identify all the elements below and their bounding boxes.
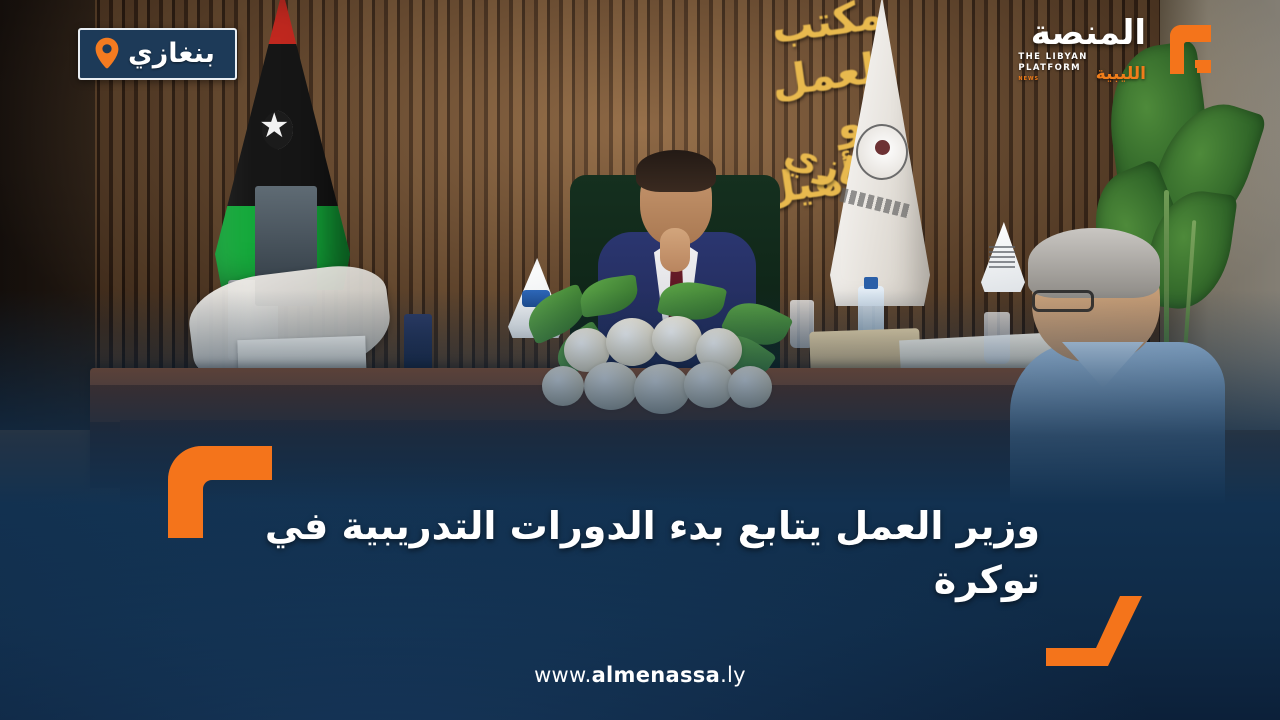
person-hand — [660, 228, 690, 272]
flower-bloom — [584, 362, 638, 410]
institution-emblem-icon — [856, 124, 908, 180]
headline: وزير العمل يتابع بدء الدورات التدريبية ف… — [240, 500, 1040, 608]
brand-second-row: THE LIBYAN PLATFORM NEWS الليبية — [1018, 52, 1146, 83]
brand-english-tiny: NEWS — [1018, 76, 1087, 83]
flower-bloom — [606, 318, 658, 366]
person-hair — [1028, 228, 1160, 298]
quote-close-bracket-icon — [1046, 596, 1150, 666]
white-flower-arrangement — [520, 276, 810, 416]
location-badge[interactable]: بنغازي — [78, 28, 237, 80]
brand-logo[interactable]: المنصة THE LIBYAN PLATFORM NEWS الليبية — [1018, 16, 1218, 83]
flower-bloom — [684, 362, 734, 408]
flower-bloom — [634, 364, 690, 414]
brand-english: THE LIBYAN PLATFORM NEWS — [1018, 52, 1087, 83]
brand-english-line2: PLATFORM — [1018, 63, 1081, 73]
flower-bloom — [542, 366, 584, 406]
white-institution-flag — [830, 0, 930, 316]
drinking-glass — [984, 312, 1010, 364]
website-url[interactable]: www.almenassa.ly — [0, 663, 1280, 687]
news-card: مكتب العمل و التأهيل بنغازي — [0, 0, 1280, 720]
url-name: almenassa — [592, 663, 721, 687]
map-pin-icon — [94, 37, 120, 69]
url-tld: .ly — [720, 663, 746, 687]
pen-holder — [404, 314, 432, 370]
flower-leaf — [578, 274, 640, 318]
location-badge-label: بنغازي — [128, 40, 215, 67]
url-prefix: www. — [534, 663, 591, 687]
brand-arabic-main: المنصة — [1018, 16, 1146, 50]
flower-bloom — [652, 316, 702, 362]
flower-bloom — [728, 366, 772, 408]
brand-quote-mark-icon — [1156, 20, 1218, 78]
person-hair — [636, 150, 716, 192]
elderly-man-light-blue-shirt — [1010, 232, 1225, 520]
brand-english-line1: THE LIBYAN — [1018, 52, 1087, 62]
eyeglasses-icon — [1032, 290, 1094, 312]
brand-arabic-sub: الليبية — [1096, 66, 1146, 83]
brand-wordmark: المنصة THE LIBYAN PLATFORM NEWS الليبية — [1018, 16, 1146, 83]
